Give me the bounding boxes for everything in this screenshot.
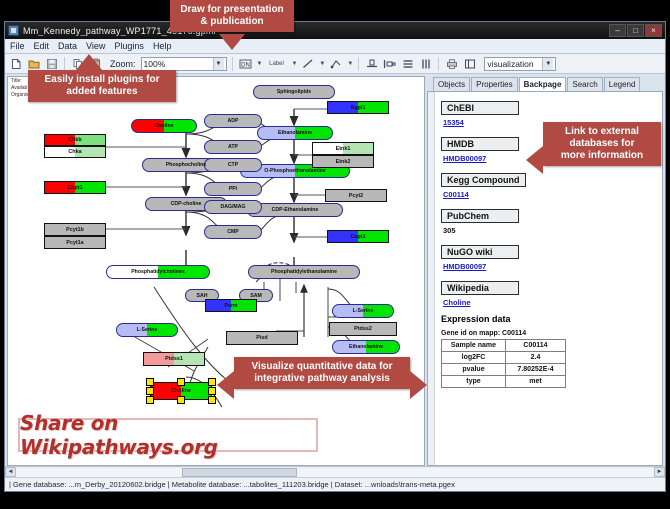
menu-view[interactable]: View — [86, 41, 105, 51]
node-sgpl1-label: Sgpl1 — [328, 102, 388, 113]
columns-icon[interactable] — [418, 56, 433, 71]
node-pemt[interactable]: Pemt — [205, 299, 257, 312]
gene-id-line: Gene id on mapp: C00114 — [441, 330, 657, 337]
toolbar-separator — [358, 57, 359, 71]
expr-key-type: type — [442, 376, 506, 388]
annotation-link: Link to external databases for more info… — [543, 122, 661, 166]
expr-val-type: met — [506, 376, 566, 388]
title-bar: Mm_Kennedy_pathway_WP1771_45176.gpml – □… — [5, 22, 665, 39]
window-controls: – □ × — [609, 24, 662, 37]
side-tabs: Objects Properties Backpage Search Legen… — [427, 76, 663, 91]
distribute-icon[interactable] — [382, 56, 397, 71]
backpage-head-chebi: ChEBI — [441, 101, 519, 115]
node-phosphatidylethanolamine[interactable]: Phosphatidylethanolamine — [248, 265, 360, 279]
node-etnk1[interactable]: Etnk1 — [312, 142, 374, 155]
toolbar-separator — [64, 57, 65, 71]
node-ctp[interactable]: CTP — [204, 158, 262, 172]
table-row: Sample name C00114 — [442, 340, 566, 352]
resize-handle-nw[interactable] — [146, 378, 154, 386]
status-text: | Gene database: ...m_Derby_20120602.bri… — [9, 480, 455, 489]
svg-text:DN: DN — [241, 62, 250, 68]
annotation-draw: Draw for presentation & publication — [170, 0, 294, 32]
node-ethanolamine-top-label: Ethanolamine — [257, 126, 333, 140]
node-chkb-label: Chkb — [45, 135, 105, 145]
node-pisd[interactable]: Pisd — [226, 331, 298, 345]
annotation-viz: Visualize quantitative data for integrat… — [234, 357, 410, 389]
zoom-label: Zoom: — [110, 59, 136, 69]
node-l-serine-right-label: L-Serine — [332, 304, 394, 318]
node-l-serine-left[interactable]: L-Serine — [116, 323, 178, 337]
visualization-value: visualization — [487, 59, 542, 69]
zoom-value: 100% — [144, 59, 213, 69]
node-adp[interactable]: ADP — [204, 114, 262, 128]
scroll-right-arrow[interactable]: ► — [654, 467, 665, 477]
node-choline-top-label: Choline — [131, 119, 197, 133]
label-tool-text: Label — [269, 61, 284, 67]
expression-data-title: Expression data — [441, 314, 657, 324]
side-scrollbar[interactable] — [428, 92, 435, 465]
node-chkb[interactable]: Chkb — [44, 134, 106, 146]
expr-val-pvalue: 7.80252E-4 — [506, 364, 566, 376]
node-cept1[interactable]: Cept1 — [327, 230, 389, 243]
backpage-head-nugo: NuGO wiki — [441, 245, 519, 259]
resize-handle-w[interactable] — [146, 387, 154, 395]
menu-data[interactable]: Data — [58, 41, 77, 51]
scroll-track[interactable] — [16, 468, 654, 477]
expression-table: Sample name C00114 log2FC 2.4 pvalue 7.8… — [441, 339, 566, 388]
resize-handle-e[interactable] — [208, 387, 216, 395]
node-etnk2-label: Etnk2 — [313, 156, 373, 167]
backpage-head-kegg: Kegg Compound — [441, 173, 526, 187]
node-etnk2[interactable]: Etnk2 — [312, 155, 374, 168]
node-pcyt1a-label: Pcyt1a — [45, 237, 105, 248]
backpage-link-wikipedia[interactable]: Choline — [443, 298, 657, 307]
status-bar: | Gene database: ...m_Derby_20120602.bri… — [5, 477, 665, 491]
node-etnk1-label: Etnk1 — [313, 143, 373, 154]
node-adp-label: ADP — [204, 114, 262, 128]
expr-val-sample: C00114 — [506, 340, 566, 352]
node-pisd-label: Pisd — [227, 332, 297, 344]
save-icon[interactable] — [44, 56, 59, 71]
backpage-head-hmdb: HMDB — [441, 137, 519, 151]
node-chpt1[interactable]: Chpt1 — [44, 181, 106, 194]
table-row: type met — [442, 376, 566, 388]
resize-handle-se[interactable] — [208, 396, 216, 404]
node-sphingolipids-label: Sphingolipids — [253, 85, 335, 99]
annotation-viz-line2: integrative pathway analysis — [254, 373, 390, 384]
backpage-link-kegg[interactable]: C00114 — [443, 190, 657, 199]
node-atp[interactable]: ATP — [204, 140, 262, 154]
expr-key-sample: Sample name — [442, 340, 506, 352]
node-ppi-label: PPi — [204, 182, 262, 196]
backpage-value-pubchem: 305 — [443, 226, 657, 235]
node-ptdss1[interactable]: Ptdss1 — [143, 352, 205, 366]
app-icon — [8, 25, 19, 36]
node-l-serine-right[interactable]: L-Serine — [332, 304, 394, 318]
menu-file[interactable]: File — [10, 41, 25, 51]
tab-backpage[interactable]: Backpage — [519, 77, 567, 92]
node-l-serine-left-label: L-Serine — [116, 323, 178, 337]
horizontal-scrollbar[interactable]: ◄ ► — [5, 466, 665, 477]
node-cmp-label: CMP — [204, 225, 262, 239]
zoom-combo[interactable]: 100% ▼ — [141, 57, 227, 71]
node-pcyt1b[interactable]: Pcyt1b — [44, 223, 106, 236]
annotation-viz-line1: Visualize quantitative data for — [252, 361, 393, 372]
annotation-plugins-line2: added features — [66, 86, 137, 97]
node-sgpl1[interactable]: Sgpl1 — [327, 101, 389, 114]
line-tool-icon[interactable] — [300, 56, 315, 71]
annotation-plugins: Easily install plugins for added feature… — [28, 70, 176, 102]
maximize-button[interactable]: □ — [627, 24, 644, 37]
node-ethanolamine-bottom-label: Ethanolamine — [332, 340, 400, 354]
node-chka[interactable]: Chka — [44, 146, 106, 158]
node-phosphatidylcholines[interactable]: Phosphatidylcholines — [106, 265, 210, 279]
node-atp-label: ATP — [204, 140, 262, 154]
node-dagmag[interactable]: DAG/MAG — [204, 200, 262, 214]
scroll-thumb[interactable] — [182, 468, 297, 477]
node-chpt1-label: Chpt1 — [45, 182, 105, 193]
annotation-link-line1: Link to external — [565, 126, 639, 137]
menu-plugins[interactable]: Plugins — [114, 41, 144, 51]
node-cept1-label: Cept1 — [328, 231, 388, 242]
annotation-viz-arrow-left — [217, 371, 234, 399]
label-tool-icon[interactable]: Label — [265, 56, 287, 71]
node-ethanolamine-bottom[interactable]: Ethanolamine — [332, 340, 400, 354]
annotation-draw-arrow — [219, 34, 245, 50]
node-phosphatidylcholines-label: Phosphatidylcholines — [106, 265, 210, 279]
chevron-down-icon[interactable]: ▼ — [213, 58, 224, 70]
annotation-draw-line2: & publication — [200, 16, 263, 27]
backpage-head-pubchem: PubChem — [441, 209, 519, 223]
window-title: Mm_Kennedy_pathway_WP1771_45176.gpml — [23, 26, 609, 36]
menu-help[interactable]: Help — [153, 41, 172, 51]
tab-properties[interactable]: Properties — [471, 77, 517, 91]
backpage-head-wikipedia: Wikipedia — [441, 281, 519, 295]
expr-key-pvalue: pvalue — [442, 364, 506, 376]
expr-val-log2fc: 2.4 — [506, 352, 566, 364]
share-banner: Share on Wikipathways.org — [18, 418, 318, 452]
node-ethanolamine-top[interactable]: Ethanolamine — [257, 126, 333, 140]
node-sphingolipids[interactable]: Sphingolipids — [253, 85, 335, 99]
resize-handle-sw[interactable] — [146, 396, 154, 404]
shape-tool-icon[interactable] — [328, 56, 343, 71]
menu-bar: File Edit Data View Plugins Help — [5, 39, 665, 54]
chevron-down-icon[interactable]: ▼ — [319, 61, 325, 67]
share-banner-text: Share on Wikipathways.org — [20, 411, 316, 459]
print-icon[interactable] — [444, 56, 459, 71]
node-pcyt2[interactable]: Pcyt2 — [325, 189, 387, 202]
chevron-down-icon[interactable]: ▼ — [542, 58, 553, 70]
node-ptdss2[interactable]: Ptdss2 — [329, 322, 397, 336]
tab-objects[interactable]: Objects — [433, 77, 470, 91]
chevron-down-icon[interactable]: ▼ — [257, 61, 263, 67]
node-pcyt1a[interactable]: Pcyt1a — [44, 236, 106, 249]
align-icon[interactable] — [364, 56, 379, 71]
resize-handle-s[interactable] — [177, 396, 185, 404]
open-folder-icon[interactable] — [26, 56, 41, 71]
annotation-plugins-arrow — [76, 54, 102, 70]
node-cmp[interactable]: CMP — [204, 225, 262, 239]
annotation-link-line3: more information — [561, 150, 643, 161]
node-ptdss2-label: Ptdss2 — [330, 323, 396, 335]
node-choline-top[interactable]: Choline — [131, 119, 197, 133]
chevron-down-icon[interactable]: ▼ — [347, 61, 353, 67]
node-ctp-label: CTP — [204, 158, 262, 172]
datanode-icon[interactable]: DN — [238, 56, 253, 71]
toolbar-separator — [232, 57, 233, 71]
annotation-plugins-line1: Easily install plugins for — [44, 74, 159, 85]
scroll-left-arrow[interactable]: ◄ — [5, 467, 16, 477]
annotation-viz-arrow-right — [410, 371, 427, 399]
resize-handle-n[interactable] — [177, 378, 185, 386]
node-ppi[interactable]: PPi — [204, 182, 262, 196]
table-row: log2FC 2.4 — [442, 352, 566, 364]
node-dagmag-label: DAG/MAG — [204, 200, 262, 214]
node-phosphatidylethanolamine-label: Phosphatidylethanolamine — [248, 265, 360, 279]
menu-edit[interactable]: Edit — [34, 41, 50, 51]
new-file-icon[interactable] — [8, 56, 23, 71]
toolbar-separator — [438, 57, 439, 71]
tab-search[interactable]: Search — [567, 77, 602, 91]
minimize-button[interactable]: – — [609, 24, 626, 37]
stack-icon[interactable] — [400, 56, 415, 71]
table-row: pvalue 7.80252E-4 — [442, 364, 566, 376]
node-pemt-label: Pemt — [206, 300, 256, 311]
node-ptdss1-label: Ptdss1 — [144, 353, 204, 365]
expr-key-log2fc: log2FC — [442, 352, 506, 364]
backpage-link-nugo[interactable]: HMDB00097 — [443, 262, 657, 271]
chevron-down-icon[interactable]: ▼ — [291, 61, 297, 67]
tab-legend[interactable]: Legend — [604, 77, 641, 91]
panel-icon[interactable] — [462, 56, 477, 71]
close-button[interactable]: × — [645, 24, 662, 37]
node-chka-label: Chka — [45, 147, 105, 157]
node-pcyt2-label: Pcyt2 — [326, 190, 386, 201]
node-choline-selected[interactable]: Choline — [150, 382, 212, 400]
pathway-canvas[interactable]: Title: Availab Organis — [7, 76, 425, 466]
visualization-combo[interactable]: visualization ▼ — [484, 57, 556, 71]
annotation-link-arrow — [526, 146, 543, 174]
node-pcyt1b-label: Pcyt1b — [45, 224, 105, 235]
annotation-link-line2: databases for — [569, 138, 634, 149]
annotation-draw-line1: Draw for presentation — [180, 4, 283, 15]
resize-handle-ne[interactable] — [208, 378, 216, 386]
